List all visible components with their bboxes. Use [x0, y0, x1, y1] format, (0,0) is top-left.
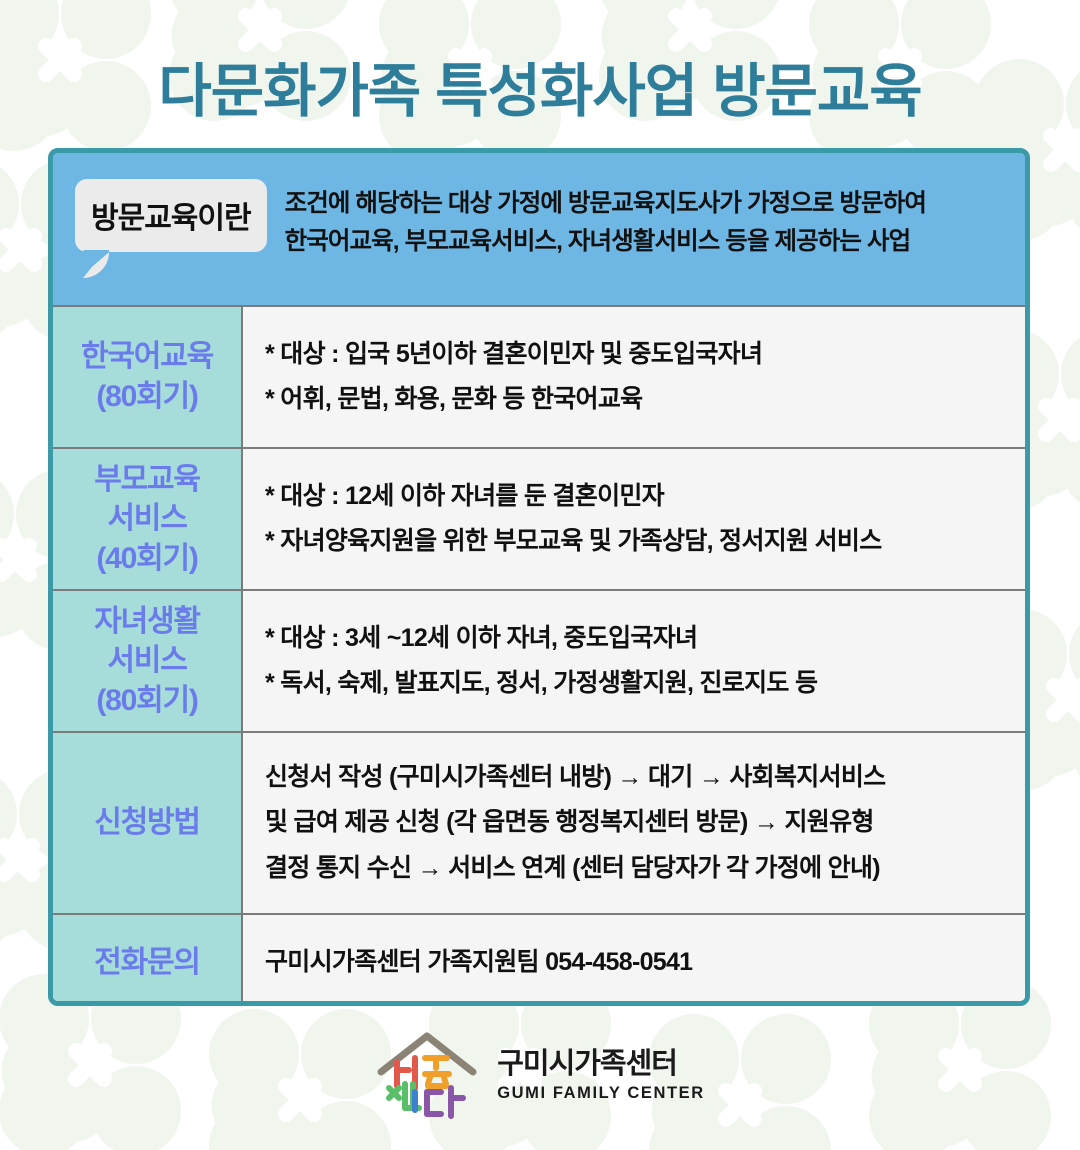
info-table-card: 방문교육이란 조건에 해당하는 대상 가정에 방문교육지도사가 가정으로 방문하… — [48, 148, 1030, 1006]
table-header-strip: 방문교육이란 조건에 해당하는 대상 가정에 방문교육지도사가 가정으로 방문하… — [53, 153, 1025, 305]
row-label-line: (80회기) — [96, 681, 197, 721]
row-label-line: 서비스 — [107, 641, 186, 681]
table-row-korean-education: 한국어교육 (80회기) * 대상 : 입국 5년이하 결혼이민자 및 중도입국… — [53, 305, 1025, 447]
table-row-phone-inquiry: 전화문의 구미시가족센터 가족지원팀 054-458-0541 — [53, 913, 1025, 1006]
row-body-line: * 독서, 숙제, 발표지도, 정서, 가정생활지원, 진로지도 등 — [265, 668, 1009, 699]
row-body-line: 결정 통지 수신 → 서비스 연계 (센터 담당자가 각 가정에 안내) — [265, 853, 1009, 884]
row-label-child-life-service: 자녀생활 서비스 (80회기) — [53, 591, 243, 731]
row-label-line: 신청방법 — [94, 803, 200, 843]
poster-page: 다문화가족 특성화사업 방문교육 방문교육이란 조건에 해당하는 대상 가정에 … — [0, 0, 1080, 1150]
table-row-child-life-service: 자녀생활 서비스 (80회기) * 대상 : 3세 ~12세 이하 자녀, 중도… — [53, 589, 1025, 731]
row-label-line: 서비스 — [107, 499, 186, 539]
footer-center-name-en: GUMI FAMILY CENTER — [497, 1085, 705, 1102]
row-body-line: * 대상 : 12세 이하 자녀를 둔 결혼이민자 — [265, 481, 1009, 512]
table-row-application-method: 신청방법 신청서 작성 (구미시가족센터 내방) → 대기 → 사회복지서비스 … — [53, 731, 1025, 913]
row-label-application-method: 신청방법 — [53, 733, 243, 913]
row-label-line: 한국어교육 — [81, 337, 213, 377]
row-label-korean-education: 한국어교육 (80회기) — [53, 307, 243, 447]
row-body-korean-education: * 대상 : 입국 5년이하 결혼이민자 및 중도입국자녀 * 어휘, 문법, … — [243, 307, 1025, 447]
row-body-line: * 대상 : 3세 ~12세 이하 자녀, 중도입국자녀 — [265, 623, 1009, 654]
gumi-family-center-logo-icon — [375, 1030, 479, 1122]
footer-logo-block: 구미시가족센터 GUMI FAMILY CENTER — [0, 1030, 1080, 1122]
row-label-line: (80회기) — [96, 377, 197, 417]
page-title: 다문화가족 특성화사업 방문교육 — [0, 44, 1080, 128]
footer-center-name-ko: 구미시가족센터 — [497, 1050, 705, 1079]
row-body-phone-inquiry: 구미시가족센터 가족지원팀 054-458-0541 — [243, 915, 1025, 1006]
row-body-line: 구미시가족센터 가족지원팀 054-458-0541 — [265, 947, 1009, 978]
row-body-line: * 자녀양육지원을 위한 부모교육 및 가족상담, 정서지원 서비스 — [265, 526, 1009, 557]
definition-line-2: 한국어교육, 부모교육서비스, 자녀생활서비스 등을 제공하는 사업 — [285, 223, 1007, 261]
row-body-application-method: 신청서 작성 (구미시가족센터 내방) → 대기 → 사회복지서비스 및 급여 … — [243, 733, 1025, 913]
definition-description: 조건에 해당하는 대상 가정에 방문교육지도사가 가정으로 방문하여 한국어교육… — [267, 175, 1007, 261]
row-body-line: * 어휘, 문법, 화용, 문화 등 한국어교육 — [265, 384, 1009, 415]
row-label-line: (40회기) — [96, 539, 197, 579]
definition-bubble: 방문교육이란 — [75, 179, 267, 252]
row-body-line: 신청서 작성 (구미시가족센터 내방) → 대기 → 사회복지서비스 — [265, 762, 1009, 793]
row-body-parent-education: * 대상 : 12세 이하 자녀를 둔 결혼이민자 * 자녀양육지원을 위한 부… — [243, 449, 1025, 589]
definition-bubble-label: 방문교육이란 — [75, 179, 267, 252]
row-body-child-life-service: * 대상 : 3세 ~12세 이하 자녀, 중도입국자녀 * 독서, 숙제, 발… — [243, 591, 1025, 731]
row-label-line: 자녀생활 — [94, 602, 200, 642]
row-body-line: * 대상 : 입국 5년이하 결혼이민자 및 중도입국자녀 — [265, 339, 1009, 370]
row-body-line: 및 급여 제공 신청 (각 읍면동 행정복지센터 방문) → 지원유형 — [265, 807, 1009, 838]
row-label-parent-education: 부모교육 서비스 (40회기) — [53, 449, 243, 589]
row-label-phone-inquiry: 전화문의 — [53, 915, 243, 1006]
table-row-parent-education: 부모교육 서비스 (40회기) * 대상 : 12세 이하 자녀를 둔 결혼이민… — [53, 447, 1025, 589]
footer-logo-text: 구미시가족센터 GUMI FAMILY CENTER — [497, 1050, 705, 1102]
definition-line-1: 조건에 해당하는 대상 가정에 방문교육지도사가 가정으로 방문하여 — [285, 185, 1007, 223]
bubble-tail-icon — [83, 250, 109, 278]
row-label-line: 부모교육 — [94, 460, 200, 500]
row-label-line: 전화문의 — [94, 943, 200, 983]
